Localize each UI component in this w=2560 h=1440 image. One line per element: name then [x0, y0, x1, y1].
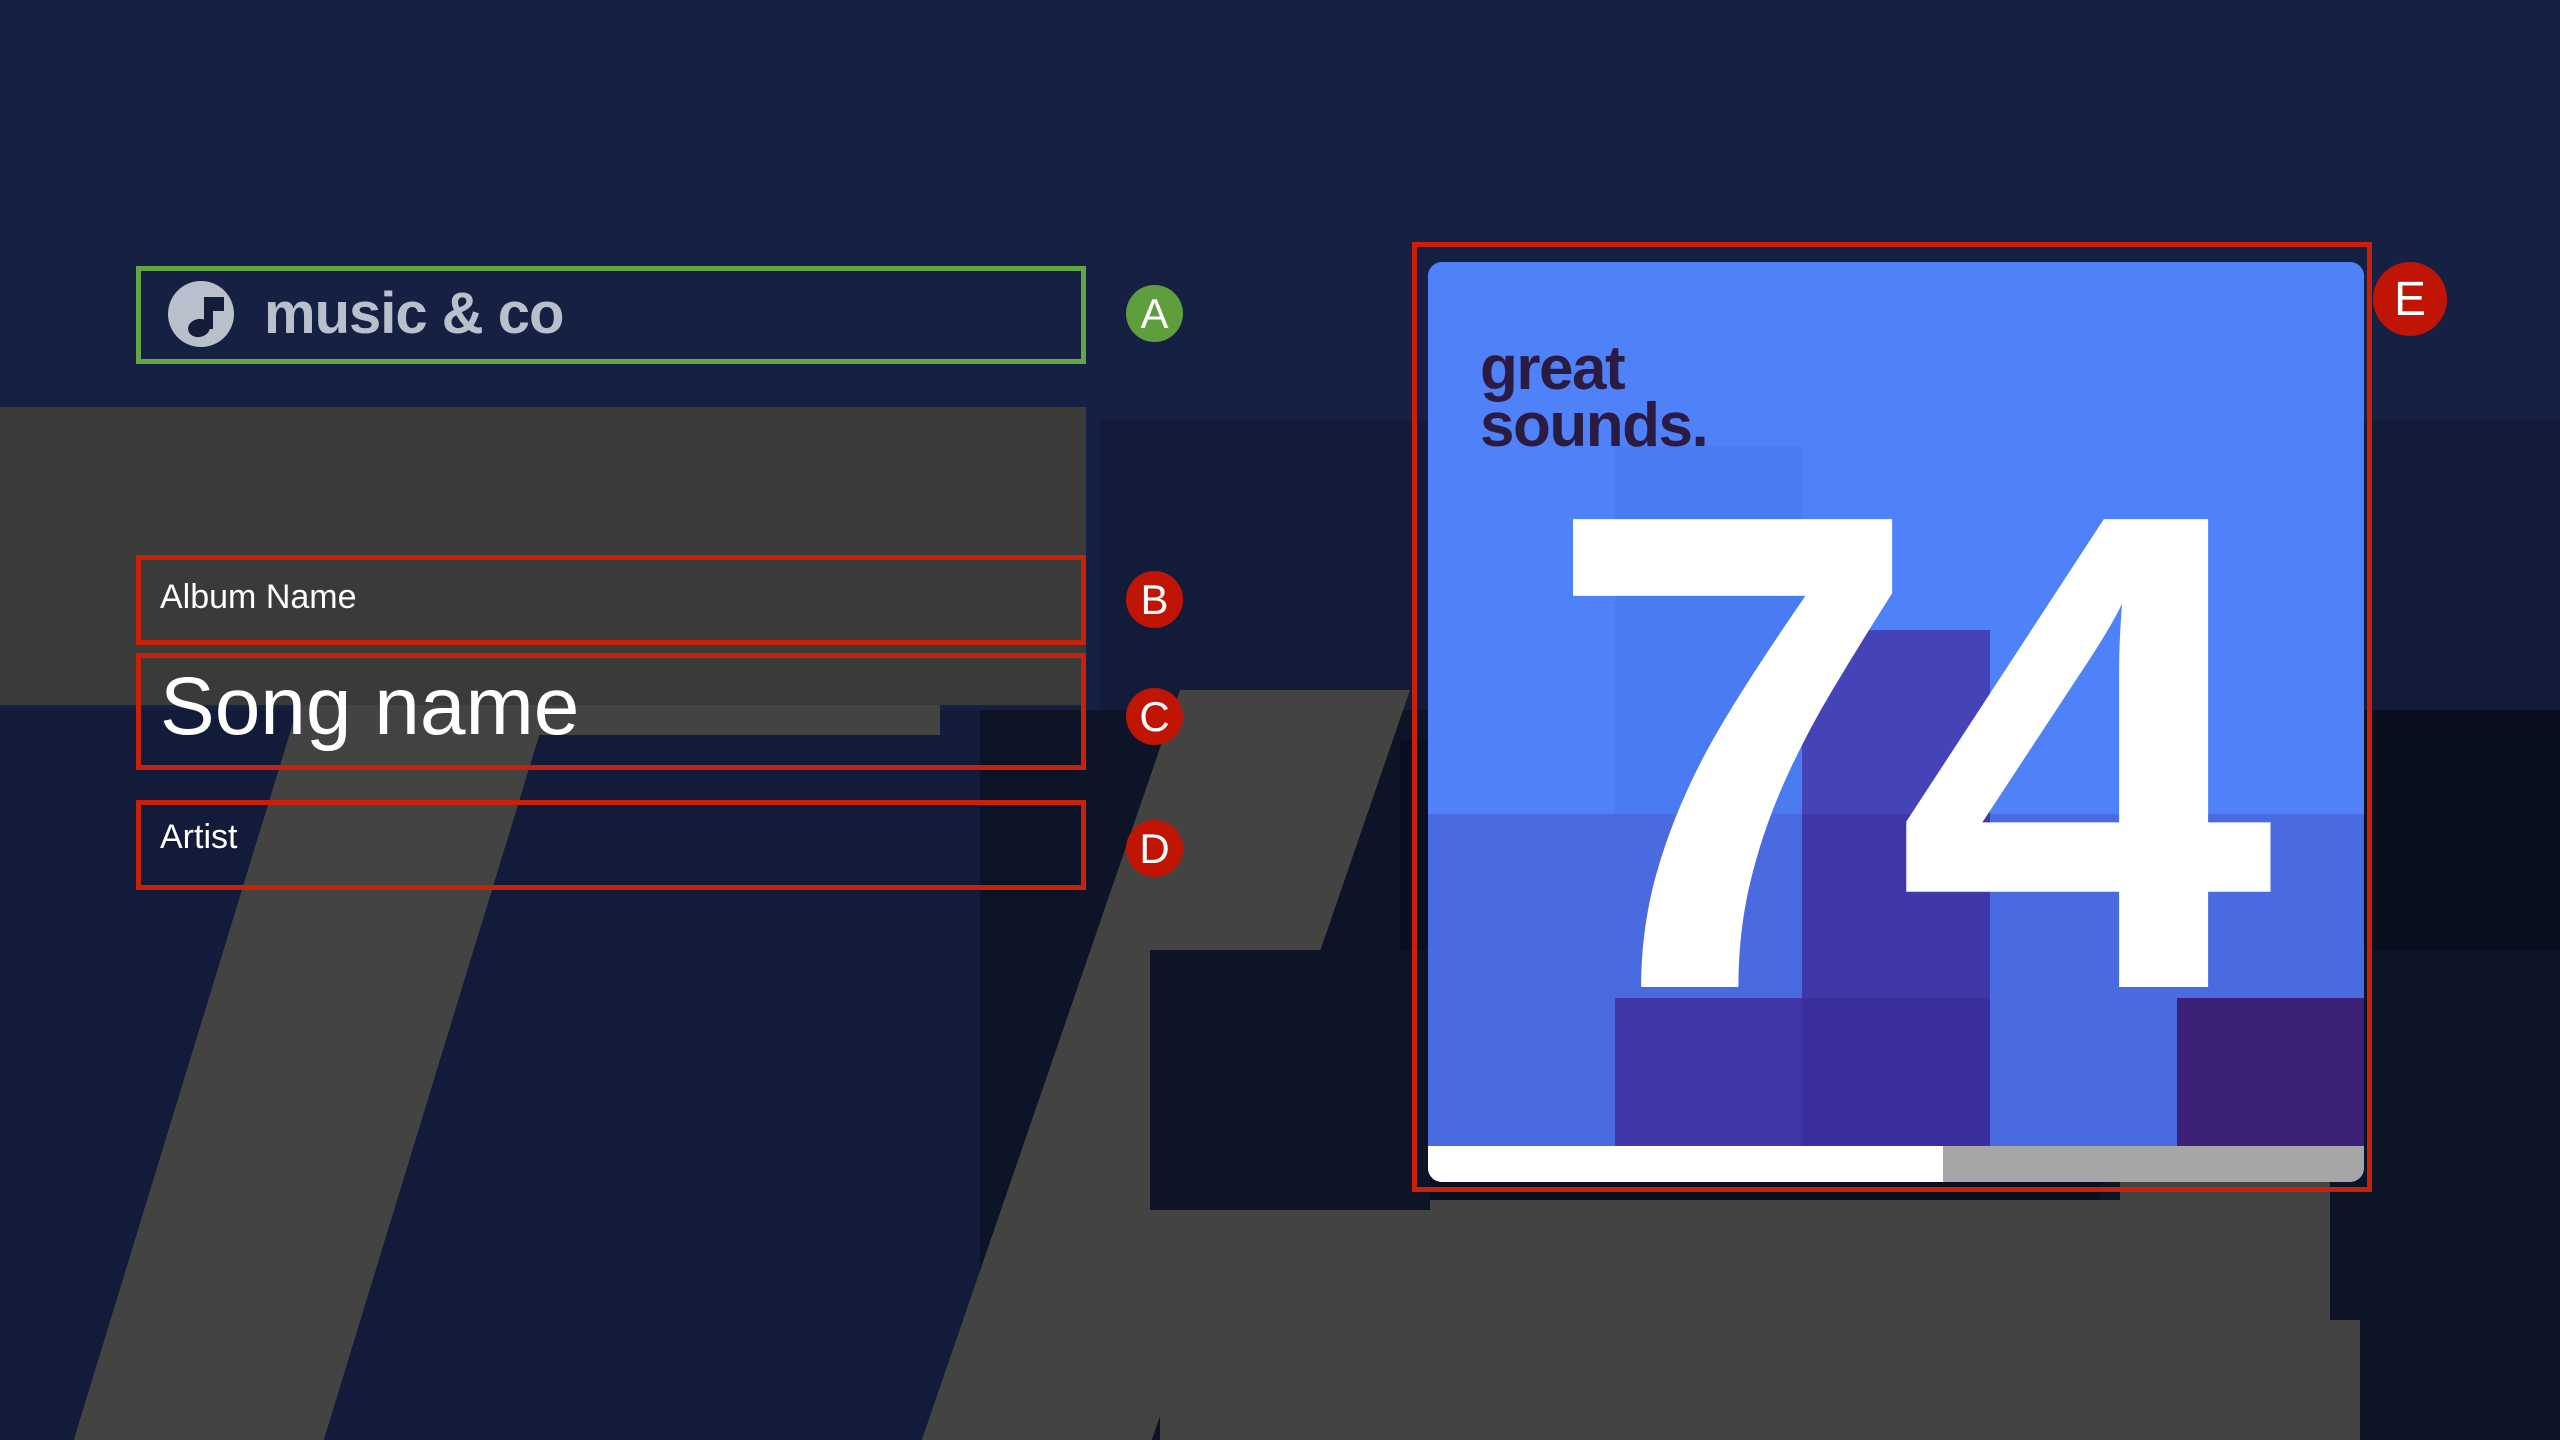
bg-four-counter-2: [1150, 950, 1430, 1210]
annotation-badge-b: B: [1126, 571, 1183, 628]
annotation-box-a: [136, 266, 1086, 364]
bg-four-crossbar: [1160, 1200, 2280, 1330]
annotation-badge-c: C: [1126, 688, 1183, 745]
annotation-box-c: [136, 653, 1086, 770]
annotation-badge-d: D: [1126, 820, 1183, 877]
annotation-box-e: [1412, 242, 2372, 1192]
bg-bottom-plate: [1160, 1320, 2360, 1440]
annotation-box-d: [136, 800, 1086, 890]
annotation-badge-e: E: [2373, 262, 2447, 336]
annotation-box-b: [136, 555, 1086, 645]
annotation-badge-a: A: [1126, 285, 1183, 342]
